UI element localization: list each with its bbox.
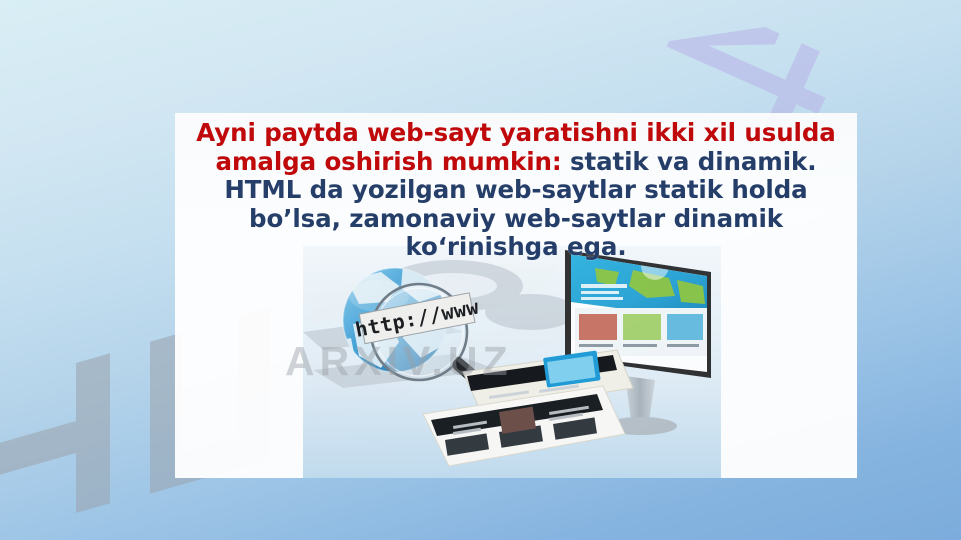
content-card: Ayni paytda web-sayt yaratishni ikki xil… (175, 113, 857, 478)
slide-canvas: Ayni paytda web-sayt yaratishni ikki xil… (0, 0, 961, 540)
illustration-image: http://www (303, 246, 721, 478)
page-title: Ayni paytda web-sayt yaratishni ikki xil… (175, 113, 857, 262)
